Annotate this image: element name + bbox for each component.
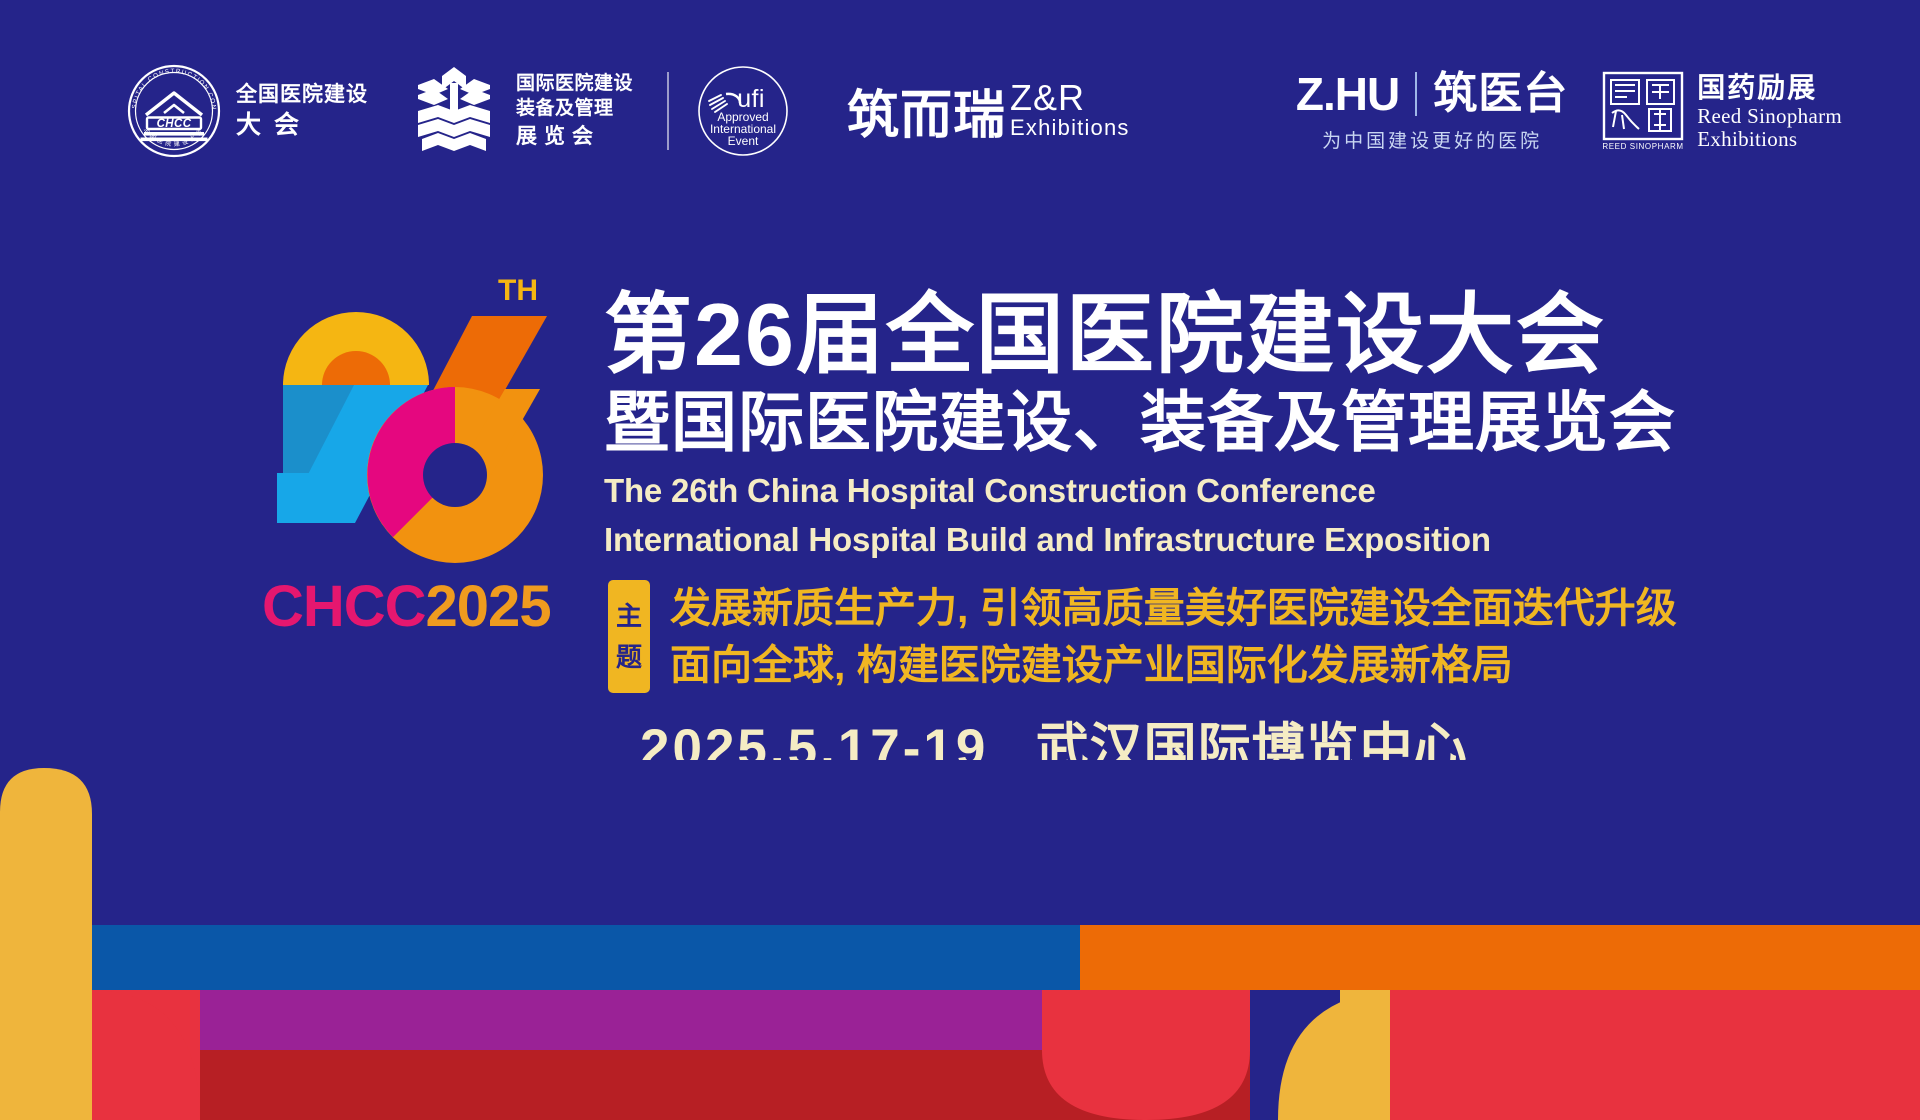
ufi-wordmark: ufi (737, 85, 765, 113)
header-logo-bar: CHINA HOSPITAL CONSTRUCTION CONFERENCE 全… (0, 56, 1920, 166)
chcc-logo[interactable]: CHINA HOSPITAL CONSTRUCTION CONFERENCE 全… (126, 63, 368, 159)
header-divider (667, 72, 669, 150)
zhu-tagline: 为中国建设更好的医院 (1322, 126, 1542, 153)
title-cn-line1: 第26届全国医院建设大会 (604, 288, 1724, 381)
reed-seal-caption: REED SINOPHARM (1603, 142, 1684, 151)
header-left-logos: CHINA HOSPITAL CONSTRUCTION CONFERENCE 全… (126, 56, 1130, 166)
zr-logo-en: Z&R Exhibitions (1010, 80, 1130, 142)
footer-decorative-band (0, 760, 1920, 1120)
reed-sinopharm-text: 国药励展 Reed Sinopharm Exhibitions (1697, 73, 1842, 151)
reed-logo-en-top: Reed Sinopharm (1697, 105, 1842, 128)
zhuyitai-logo[interactable]: Z.HU 筑医台 为中国建设更好的医院 (1296, 71, 1568, 153)
theme-badge-char2: 题 (616, 637, 642, 677)
reed-sinopharm-seal-icon: REED SINOPHARM (1602, 71, 1684, 153)
header-right-logos: Z.HU 筑医台 为中国建设更好的医院 (1296, 58, 1842, 166)
international-exhibition-logo[interactable]: 国际医院建设 装备及管理 展览会 (404, 65, 633, 157)
reed-logo-en-bottom: Exhibitions (1697, 128, 1842, 151)
zhu-wordmark: Z.HU (1296, 71, 1399, 117)
chcc2025-wordmark: CHCC2025 (262, 578, 582, 636)
ufi-line3: Event (728, 134, 759, 148)
zhu-logo-cn: 筑医台 (1433, 72, 1568, 116)
theme-badge: 主 题 (608, 580, 650, 693)
zhuyitai-row: Z.HU 筑医台 (1296, 71, 1568, 117)
chcc-logo-line1: 全国医院建设 (236, 83, 368, 107)
svg-text:CHINA HOSPITAL CONSTRUCTION CO: CHINA HOSPITAL CONSTRUCTION CONFERENCE (126, 63, 217, 111)
title-block: 第26届全国医院建设大会 暨国际医院建设、装备及管理展览会 The 26th C… (604, 288, 1724, 560)
zr-logo-en-top: Z&R (1010, 80, 1130, 117)
theme-block: 主 题 发展新质生产力, 引领高质量美好医院建设全面迭代升级 面向全球, 构建医… (608, 580, 1677, 693)
theme-line1: 发展新质生产力, 引领高质量美好医院建设全面迭代升级 (670, 580, 1677, 637)
intl-line3: 展览会 (516, 124, 633, 149)
ufi-approved-badge[interactable]: ufi Approved International Event (697, 65, 789, 157)
emblem-ordinal: TH (498, 274, 538, 307)
chcc2025-pink: CHCC (262, 574, 426, 639)
zhu-divider (1415, 72, 1417, 116)
chcc-logo-text: 全国医院建设 大会 (236, 83, 368, 139)
reed-sinopharm-logo[interactable]: REED SINOPHARM 国药励展 Reed Sinopharm Exhib… (1602, 71, 1842, 153)
snowflake-building-icon (404, 65, 504, 157)
intl-line1: 国际医院建设 (516, 73, 633, 96)
chcc-seal-icon: CHINA HOSPITAL CONSTRUCTION CONFERENCE 全… (126, 63, 222, 159)
title-en-line1: The 26th China Hospital Construction Con… (604, 471, 1724, 511)
zr-exhibitions-logo[interactable]: 筑而瑞 Z&R Exhibitions (847, 80, 1130, 142)
reed-logo-cn: 国药励展 (1697, 73, 1842, 103)
chcc2025-amber: 2025 (426, 574, 551, 639)
theme-badge-char1: 主 (616, 596, 642, 636)
chcc-logo-line2: 大会 (236, 111, 368, 139)
zr-logo-cn: 筑而瑞 (847, 90, 1006, 142)
svg-text:CHCC: CHCC (157, 118, 192, 130)
title-en-line2: International Hospital Build and Infrast… (604, 520, 1724, 560)
theme-line2: 面向全球, 构建医院建设产业国际化发展新格局 (670, 637, 1677, 694)
intl-line2: 装备及管理 (516, 98, 633, 121)
zr-logo-en-bottom: Exhibitions (1010, 117, 1130, 139)
poster-canvas: CHINA HOSPITAL CONSTRUCTION CONFERENCE 全… (0, 0, 1920, 1120)
anniversary-26-emblem: TH (250, 258, 560, 568)
international-exhibition-text: 国际医院建设 装备及管理 展览会 (516, 73, 633, 149)
title-cn-line2: 暨国际医院建设、装备及管理展览会 (604, 385, 1724, 460)
theme-lines: 发展新质生产力, 引领高质量美好医院建设全面迭代升级 面向全球, 构建医院建设产… (670, 580, 1677, 693)
